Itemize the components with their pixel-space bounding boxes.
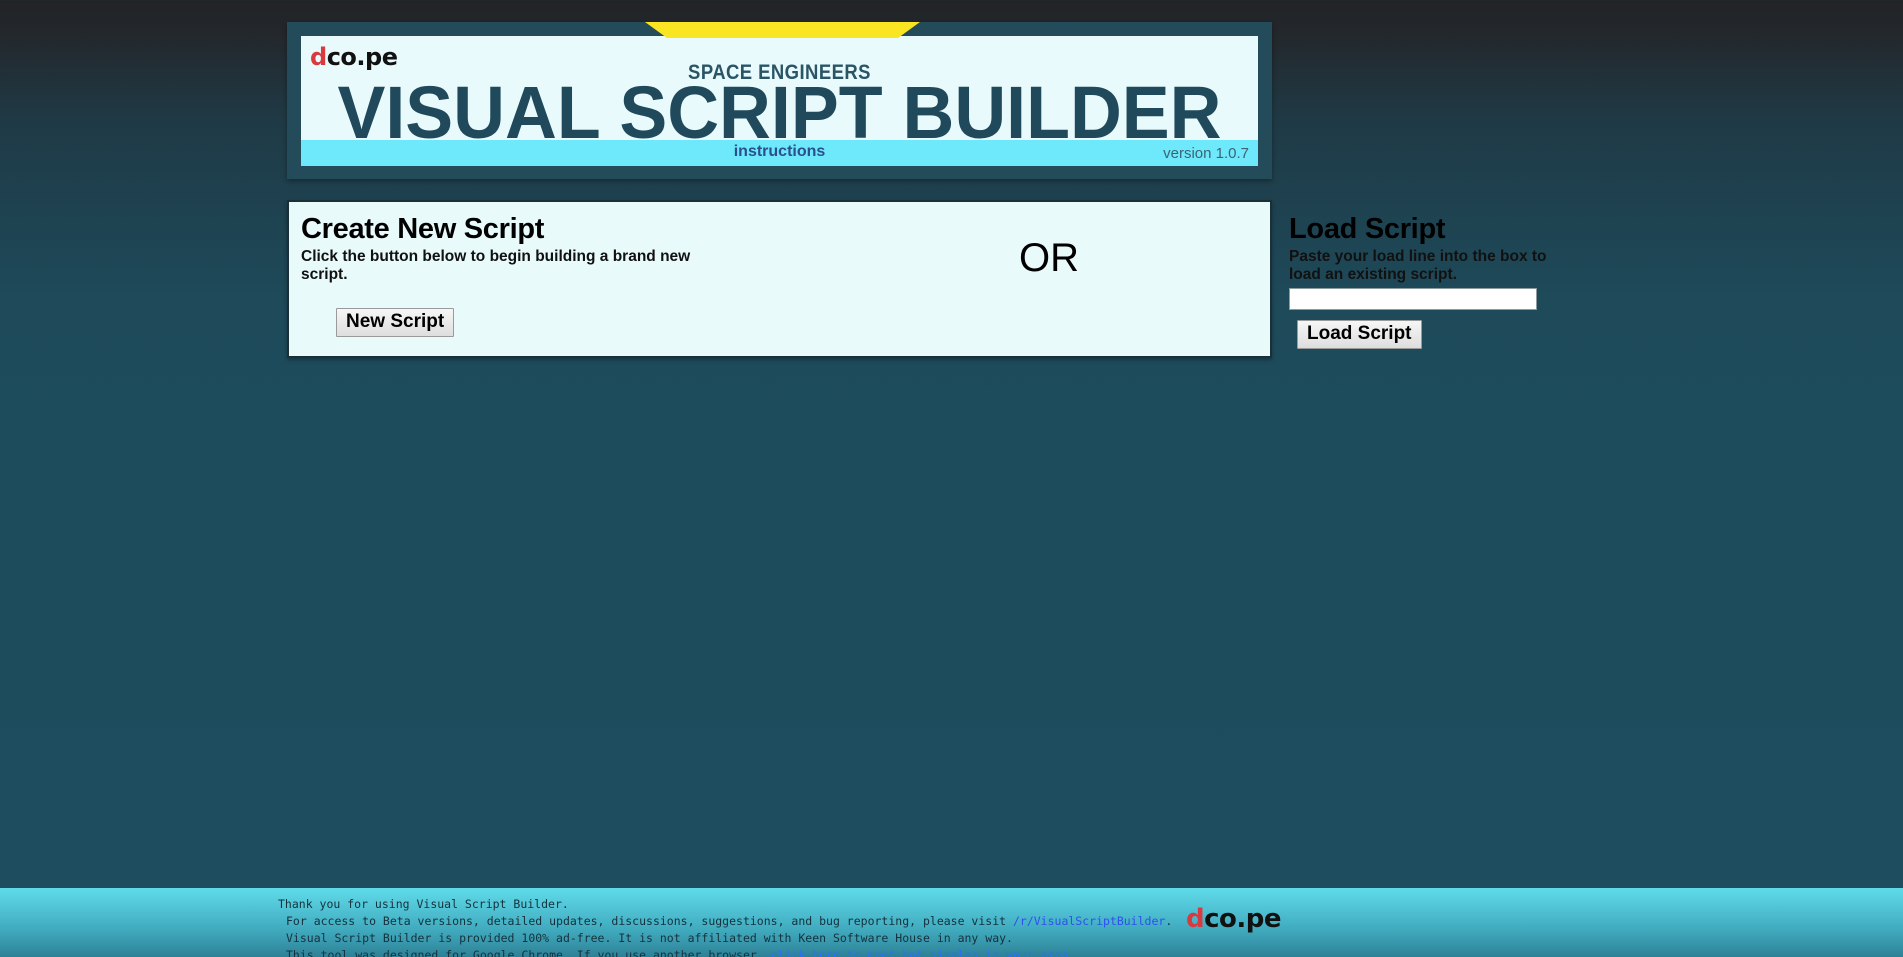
header-accent-tab [645, 22, 920, 38]
subreddit-link[interactable]: /r/VisualScriptBuilder [1013, 914, 1165, 928]
header-panel: dco.pe SPACE ENGINEERS VISUAL SCRIPT BUI… [301, 36, 1258, 166]
or-divider-label: OR [1019, 236, 1079, 280]
main-panel: Create New Script Click the button below… [287, 200, 1272, 358]
footer-browser-line: This tool was designed for Google Chrome… [286, 947, 1172, 957]
footer-adfree-line: Visual Script Builder is provided 100% a… [286, 930, 1172, 947]
logo-accent-letter: d [310, 43, 327, 71]
load-script-button[interactable]: Load Script [1297, 320, 1422, 349]
brand-logo-footer[interactable]: dco.pe [1186, 906, 1281, 932]
footer-browser-text-after: . [1068, 948, 1075, 957]
new-script-button[interactable]: New Script [336, 308, 454, 337]
create-script-description: Click the button below to begin building… [301, 248, 731, 285]
footer: Thank you for using Visual Script Builde… [0, 888, 1903, 957]
footer-beta-text-after: . [1165, 914, 1172, 928]
instructions-link[interactable]: instructions [301, 143, 1258, 161]
load-script-title: Load Script [1289, 214, 1549, 246]
footer-thanks-line: Thank you for using Visual Script Builde… [278, 896, 1172, 913]
load-script-description: Paste your load line into the box to loa… [1289, 248, 1549, 285]
or-divider: OR [979, 238, 1119, 278]
load-line-input[interactable] [1289, 288, 1537, 310]
footer-browser-text-before: This tool was designed for Google Chrome… [286, 948, 771, 957]
header-sub-bar: instructions version 1.0.7 [301, 140, 1258, 166]
logo-rest-footer: co.pe [1204, 904, 1281, 934]
logo-accent-letter-footer: d [1186, 904, 1204, 934]
load-script-section: Load Script Paste your load line into th… [1289, 214, 1549, 285]
create-script-section: Create New Script Click the button below… [301, 214, 731, 285]
create-script-title: Create New Script [301, 214, 731, 246]
version-label: version 1.0.7 [1163, 145, 1249, 162]
footer-beta-text-before: For access to Beta versions, detailed up… [286, 914, 1013, 928]
footer-beta-line: For access to Beta versions, detailed up… [286, 913, 1172, 930]
browser-joke-link[interactable]: click here to meet hot singles in your a… [771, 948, 1069, 957]
footer-text: Thank you for using Visual Script Builde… [278, 896, 1172, 957]
